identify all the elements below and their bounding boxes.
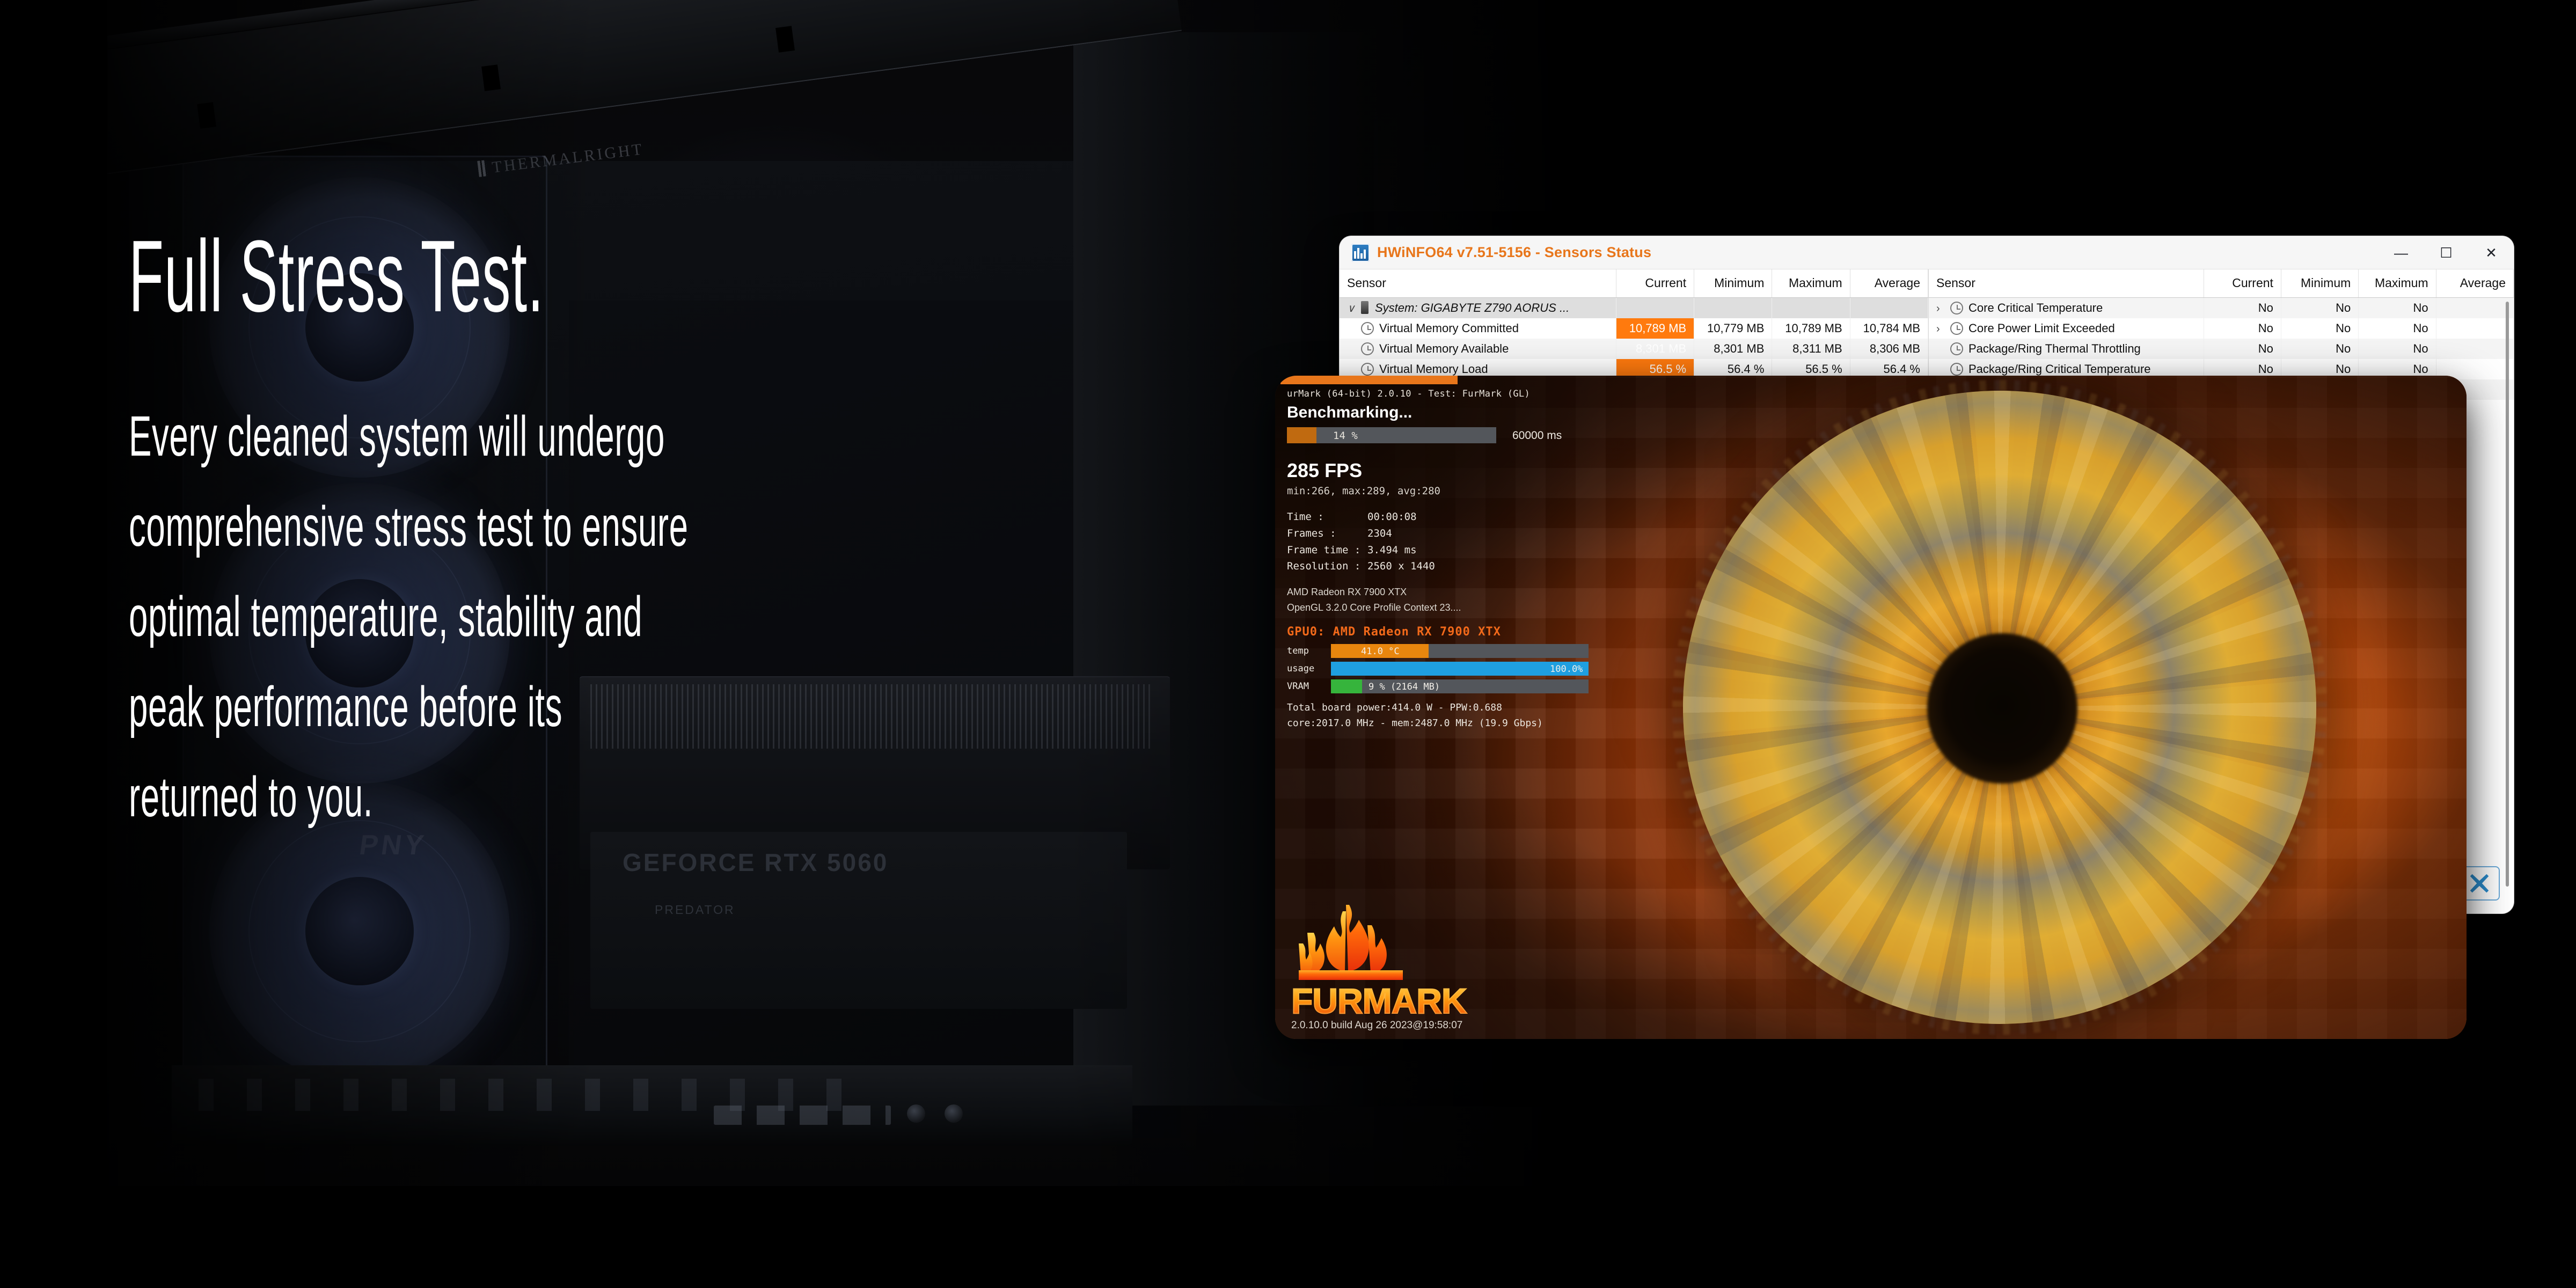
- column-header-sensor[interactable]: Sensor: [1929, 269, 2204, 297]
- benchmark-duration-label: 60000 ms: [1512, 429, 1562, 442]
- column-header-minimum[interactable]: Minimum: [2281, 269, 2358, 297]
- row-expander-icon[interactable]: ›: [1936, 323, 1950, 335]
- cell-average: [1850, 297, 1928, 318]
- sensor-name: System: GIGABYTE Z790 AORUS ...: [1375, 301, 1569, 314]
- hero-line: comprehensive stress test to ensure: [129, 498, 805, 555]
- metric-value: 9 % (2164 MB): [1368, 682, 1440, 692]
- slide-canvas: THERMALRIGHT PNY GEFORCE RTX 5060 PREDAT…: [0, 0, 2576, 1288]
- case-latch: [775, 26, 795, 53]
- column-header-current[interactable]: Current: [1616, 269, 1694, 297]
- hero-paragraph: Every cleaned system will undergo compre…: [129, 408, 1256, 825]
- table-row[interactable]: Virtual Memory Committed10,789 MB10,779 …: [1340, 318, 1928, 339]
- clock-icon: [1950, 322, 1963, 335]
- gpu-metric-bar: VRAM9 % (2164 MB): [1287, 679, 1641, 693]
- stat-row: Time :00:00:08: [1287, 509, 1641, 525]
- cell-sensor: ›Core Critical Temperature: [1929, 297, 2204, 318]
- case-latch: [197, 102, 216, 129]
- column-header-average[interactable]: Average: [2436, 269, 2513, 297]
- front-io-ports: [714, 1106, 891, 1125]
- fps-min-max-avg: min:266, max:289, avg:280: [1287, 485, 1641, 497]
- column-header-average[interactable]: Average: [1850, 269, 1928, 297]
- sensor-name: Virtual Memory Available: [1379, 342, 1509, 355]
- cell-sensor: ∨System: GIGABYTE Z790 AORUS ...: [1340, 297, 1616, 318]
- gpu-metric-bar: temp41.0 °C: [1287, 644, 1641, 658]
- sensor-name: Package/Ring Thermal Throttling: [1968, 342, 2141, 355]
- cell-current: 10,789 MB: [1616, 318, 1694, 339]
- row-expander-icon[interactable]: ∨: [1347, 302, 1361, 315]
- cell-average: [2436, 339, 2513, 359]
- furmark-osd: urMark (64-bit) 2.0.10 - Test: FurMark (…: [1287, 389, 1641, 731]
- case-latch: [481, 64, 501, 91]
- sensor-name: Package/Ring Critical Temperature: [1968, 362, 2151, 376]
- clock-icon: [1361, 363, 1374, 376]
- cell-minimum: 8,301 MB: [1694, 339, 1772, 359]
- stat-value: 3.494 ms: [1367, 544, 1417, 556]
- progress-percent-label: 14 %: [1333, 430, 1358, 442]
- flames-icon: [1291, 903, 1468, 983]
- benchmark-status: Benchmarking...: [1287, 404, 1641, 422]
- front-io-knob: [907, 1104, 925, 1123]
- gpu-metric-bars: temp41.0 °Cusage100.0%VRAM9 % (2164 MB): [1287, 644, 1641, 693]
- table-row[interactable]: ›Core Power Limit ExceededNoNoNo: [1929, 318, 2514, 339]
- metric-label: usage: [1287, 663, 1331, 674]
- sensor-name: Virtual Memory Load: [1379, 362, 1488, 376]
- window-controls: — ☐ ✕: [2379, 236, 2514, 269]
- metric-value: 41.0 °C: [1361, 646, 1400, 657]
- stat-value: 00:00:08: [1367, 511, 1417, 523]
- cell-minimum: 10,779 MB: [1694, 318, 1772, 339]
- cell-current: No: [2204, 297, 2281, 318]
- cell-maximum: No: [2359, 297, 2436, 318]
- table-header-row: Sensor Current Minimum Maximum Average: [1929, 269, 2514, 297]
- hero-line: Every cleaned system will undergo: [129, 408, 805, 465]
- clock-icon: [1950, 342, 1963, 355]
- clocks-line: core:2017.0 MHz - mem:2487.0 MHz (19.9 G…: [1287, 715, 1641, 731]
- cell-average: [2436, 318, 2513, 339]
- metric-track: 100.0%: [1331, 662, 1589, 676]
- motherboard-brand: PREDATOR: [655, 903, 735, 917]
- cell-current: No: [2204, 318, 2281, 339]
- metric-fill: [1331, 679, 1362, 693]
- furmark-titlebar-text: urMark (64-bit) 2.0.10 - Test: FurMark (…: [1287, 389, 1641, 399]
- fps-readout: 285 FPS: [1287, 459, 1641, 482]
- minimize-button[interactable]: —: [2379, 236, 2424, 269]
- metric-label: VRAM: [1287, 681, 1331, 692]
- metric-track: 41.0 °C: [1331, 644, 1589, 658]
- stat-row: Frame time :3.494 ms: [1287, 542, 1641, 559]
- table-row[interactable]: ›Core Critical TemperatureNoNoNo: [1929, 297, 2514, 318]
- close-button[interactable]: ✕: [2469, 236, 2514, 269]
- table-row[interactable]: ∨System: GIGABYTE Z790 AORUS ...: [1340, 297, 1928, 318]
- maximize-button[interactable]: ☐: [2424, 236, 2469, 269]
- stat-value: 2304: [1367, 528, 1392, 539]
- cell-average: [2436, 297, 2513, 318]
- clock-icon: [1950, 302, 1963, 314]
- metric-label: temp: [1287, 646, 1331, 656]
- cell-average: 8,306 MB: [1850, 339, 1928, 359]
- clock-icon: [1361, 342, 1374, 355]
- group-icon: [1361, 301, 1368, 314]
- gl-renderer: AMD Radeon RX 7900 XTX: [1287, 584, 1641, 600]
- cell-maximum: No: [2359, 339, 2436, 359]
- gl-info: AMD Radeon RX 7900 XTX OpenGL 3.2.0 Core…: [1287, 584, 1641, 616]
- clock-icon: [1361, 322, 1374, 335]
- front-io-knob: [945, 1104, 963, 1123]
- gl-version: OpenGL 3.2.0 Core Profile Context 23....: [1287, 600, 1641, 616]
- page-title: Full Stress Test.: [129, 225, 760, 327]
- cell-average: 10,784 MB: [1850, 318, 1928, 339]
- sensor-name: Core Critical Temperature: [1968, 301, 2103, 314]
- furmark-stats-list: Time :00:00:08Frames :2304Frame time :3.…: [1287, 509, 1641, 575]
- gpu-power-info: Total board power:414.0 W - PPW:0.688 co…: [1287, 700, 1641, 731]
- cell-sensor: ›Core Power Limit Exceeded: [1929, 318, 2204, 339]
- sensor-name: Virtual Memory Committed: [1379, 321, 1519, 335]
- stat-value: 2560 x 1440: [1367, 560, 1435, 572]
- hwinfo-titlebar[interactable]: HWiNFO64 v7.51-5156 - Sensors Status — ☐…: [1340, 236, 2514, 269]
- hwinfo-title: HWiNFO64 v7.51-5156 - Sensors Status: [1377, 244, 1651, 261]
- table-row[interactable]: Package/Ring Thermal ThrottlingNoNoNo: [1929, 339, 2514, 359]
- column-header-minimum[interactable]: Minimum: [1694, 269, 1772, 297]
- gpu-section-title: GPU0: AMD Radeon RX 7900 XTX: [1287, 625, 1641, 639]
- stat-key: Frame time :: [1287, 542, 1367, 559]
- hero-line: returned to you.: [129, 769, 805, 825]
- hero-line: optimal temperature, stability and: [129, 588, 805, 645]
- cell-current: [1616, 297, 1694, 318]
- hero-line: peak performance before its: [129, 678, 805, 735]
- cell-sensor: Virtual Memory Available: [1340, 339, 1616, 359]
- monitor-chip: monitor: [1280, 376, 1458, 384]
- stat-key: Frames :: [1287, 525, 1367, 542]
- furmark-logo: FURMARK 2.0.10.0 build Aug 26 2023@19:58…: [1291, 903, 1468, 1031]
- cell-minimum: [1694, 297, 1772, 318]
- cell-minimum: No: [2281, 339, 2358, 359]
- furmark-wordmark: FURMARK: [1291, 983, 1468, 1019]
- cell-minimum: No: [2281, 297, 2358, 318]
- benchmark-progress-bar: 14 %: [1287, 427, 1496, 443]
- table-header-row: Sensor Current Minimum Maximum Average: [1340, 269, 1928, 297]
- table-row[interactable]: Virtual Memory Available8,301 MB8,301 MB…: [1340, 339, 1928, 359]
- vertical-scrollbar[interactable]: [2503, 302, 2512, 887]
- cell-sensor: Package/Ring Thermal Throttling: [1929, 339, 2204, 359]
- clock-icon: [1950, 363, 1963, 376]
- cell-current: No: [2204, 339, 2281, 359]
- cell-maximum: 10,789 MB: [1772, 318, 1850, 339]
- sensor-name: Core Power Limit Exceeded: [1968, 321, 2115, 335]
- donut-hole: [1927, 633, 2077, 784]
- gpu-metric-bar: usage100.0%: [1287, 662, 1641, 676]
- metric-track: 9 % (2164 MB): [1331, 679, 1589, 693]
- column-header-maximum[interactable]: Maximum: [1772, 269, 1850, 297]
- stat-key: Resolution :: [1287, 558, 1367, 575]
- stat-row: Frames :2304: [1287, 525, 1641, 542]
- metric-value: 100.0%: [1550, 664, 1583, 675]
- cell-maximum: [1772, 297, 1850, 318]
- stat-key: Time :: [1287, 509, 1367, 525]
- stat-row: Resolution :2560 x 1440: [1287, 558, 1641, 575]
- bar-chart-icon: [1351, 244, 1370, 262]
- cell-maximum: No: [2359, 318, 2436, 339]
- column-header-maximum[interactable]: Maximum: [2359, 269, 2436, 297]
- column-header-current[interactable]: Current: [2204, 269, 2281, 297]
- cell-current: 8,301 MB: [1616, 339, 1694, 359]
- column-header-sensor[interactable]: Sensor: [1340, 269, 1616, 297]
- board-power-line: Total board power:414.0 W - PPW:0.688: [1287, 700, 1641, 715]
- cell-sensor: Virtual Memory Committed: [1340, 318, 1616, 339]
- row-expander-icon[interactable]: ›: [1936, 303, 1950, 315]
- cell-maximum: 8,311 MB: [1772, 339, 1850, 359]
- furmark-build-string: 2.0.10.0 build Aug 26 2023@19:58:07: [1291, 1020, 1468, 1031]
- hero-copy: Full Stress Test. Every cleaned system w…: [129, 225, 1256, 859]
- furmark-window[interactable]: monitor urMark (64-bit) 2.0.10 - Test: F…: [1275, 376, 2467, 1039]
- cell-minimum: No: [2281, 318, 2358, 339]
